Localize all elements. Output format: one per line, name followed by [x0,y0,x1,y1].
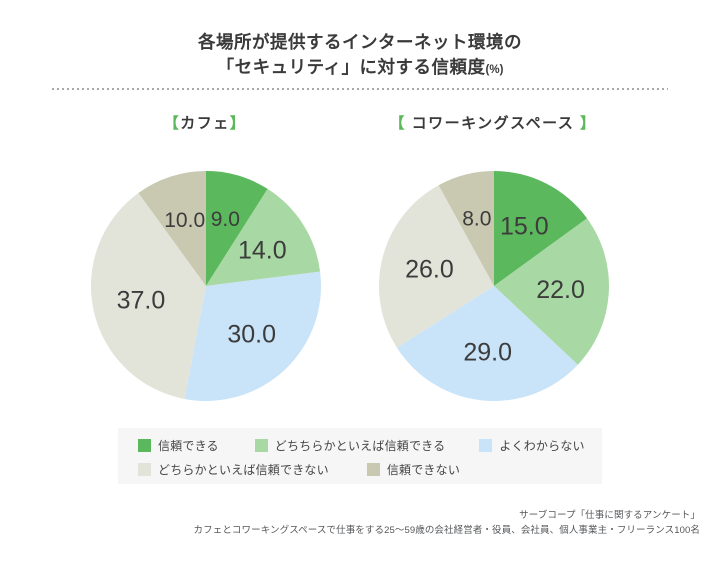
pie-header-cafe-label: カフェ [180,115,230,132]
pie-header-coworking: 【 コワーキングスペース 】 [348,112,638,133]
title-unit: (%) [486,64,504,76]
legend-swatch-trust [138,439,151,452]
pie-slice-value: 15.0 [500,213,549,241]
pie-chart-cafe: 9.014.030.037.010.0 [90,170,322,402]
pie-slice-value: 8.0 [462,208,491,231]
pie-slice-value: 29.0 [463,338,512,366]
legend-item-3[interactable]: どちらかといえば信頼できない [138,461,329,478]
legend-swatch-somewhat-trust [255,439,268,452]
pie-slice-value: 10.0 [164,209,205,232]
legend-label-3: どちらかといえば信頼できない [158,461,329,478]
legend-swatch-unsure [479,439,492,452]
title-line-2: 「セキュリティ」に対する信頼度(%) [0,55,720,83]
pie-header-coworking-label: コワーキングスペース [406,115,580,132]
bracket-close-icon: 】 [580,115,597,132]
bracket-open-icon: 【 [389,115,406,132]
legend-swatch-somewhat-distrust [138,463,151,476]
legend-label-0: 信頼できる [158,437,219,454]
source-line-1: サーブコープ「仕事に関するアンケート」 [194,508,700,523]
legend-item-0[interactable]: 信頼できる [138,437,219,454]
title-divider [52,88,668,90]
pie-slice-value: 14.0 [238,236,287,264]
legend-label-2: よくわからない [499,437,584,454]
title-line-2-text: 「セキュリティ」に対する信頼度 [217,57,486,77]
pie-slice-value: 9.0 [211,208,240,231]
legend: 信頼できる どちちらかといえば信頼できる よくわからない どちらかといえば信頼で… [118,428,602,484]
pie-header-cafe: 【カフェ】 [60,112,350,133]
legend-item-4[interactable]: 信頼できない [367,461,460,478]
pie-cafe-svg: 9.014.030.037.010.0 [90,170,322,402]
legend-label-4: 信頼できない [387,461,460,478]
bracket-open-icon: 【 [164,115,181,132]
pie-slice-value: 30.0 [227,321,276,349]
legend-item-1[interactable]: どちちらかといえば信頼できる [255,437,446,454]
bracket-close-icon: 】 [230,115,247,132]
pie-slice-value: 37.0 [117,287,166,315]
pie-chart-coworking: 15.022.029.026.08.0 [378,170,610,402]
legend-swatch-distrust [367,463,380,476]
pie-slice-value: 22.0 [536,276,585,304]
title-line-1: 各場所が提供するインターネット環境の [0,30,720,55]
pie-coworking-svg: 15.022.029.026.08.0 [378,170,610,402]
pie-slice-value: 26.0 [405,255,454,283]
legend-label-1: どちちらかといえば信頼できる [275,437,446,454]
legend-item-2[interactable]: よくわからない [479,437,584,454]
legend-row-1: 信頼できる どちちらかといえば信頼できる よくわからない [118,433,602,457]
legend-row-2: どちらかといえば信頼できない 信頼できない [118,457,602,481]
page-title: 各場所が提供するインターネット環境の 「セキュリティ」に対する信頼度(%) [0,30,720,83]
source-line-2: カフェとコワーキングスペースで仕事をする25〜59歳の会社経営者・役員、会社員、… [194,523,700,538]
chart-root: 各場所が提供するインターネット環境の 「セキュリティ」に対する信頼度(%) 【カ… [0,0,720,570]
source-note: サーブコープ「仕事に関するアンケート」 カフェとコワーキングスペースで仕事をする… [194,508,700,538]
